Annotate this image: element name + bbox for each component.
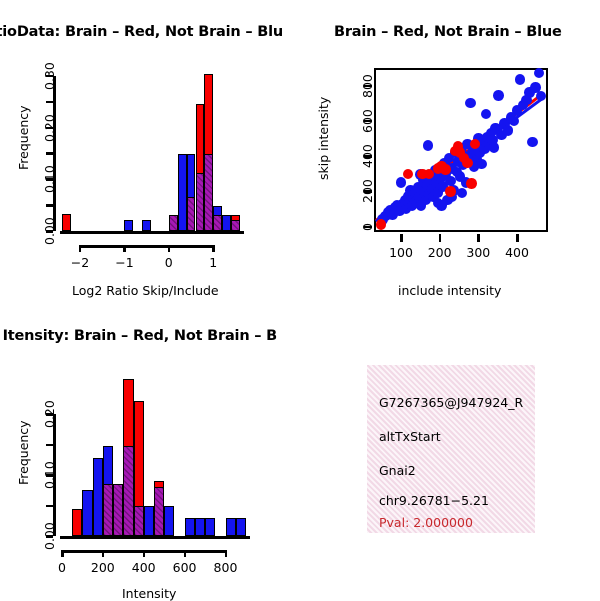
info-gene-name: Gnai2	[379, 463, 416, 478]
ratio-hist-x-tick-label: −2	[71, 255, 89, 270]
ratio-hist-y-tick-minor	[46, 204, 53, 207]
scatter-point	[462, 158, 472, 168]
ratio-hist-bar	[62, 214, 71, 231]
ratio-hist-x-tick	[79, 245, 82, 252]
scatter-point	[493, 90, 503, 100]
ratio-hist-bar-overlap	[196, 173, 205, 231]
scatter-point	[423, 140, 433, 150]
intensity-hist-x-tick	[102, 550, 105, 557]
intensity-hist-bar	[205, 518, 215, 536]
intensity-hist-y-tick-label: 0.10	[42, 461, 57, 489]
scatter-point	[445, 186, 455, 196]
intensity-hist-x-tick-label: 600	[173, 560, 197, 575]
info-box: G7267365@J947924_R altTxStart Gnai2 chr9…	[367, 365, 535, 533]
intensity-hist-bar-overlap	[154, 487, 164, 536]
ratio-hist-bar-overlap	[213, 215, 222, 231]
ratio-hist-x-tick	[123, 245, 126, 252]
scatter-x-tick	[439, 234, 442, 242]
ratio-hist-bar-overlap	[231, 220, 240, 231]
ratio-hist-y-tick-label: 0.20	[42, 114, 57, 142]
intensity-hist-x-tick	[143, 550, 146, 557]
intensity-hist-y-tick-minor	[46, 444, 53, 447]
scatter-point	[403, 169, 413, 179]
intensity-hist-x-tick	[61, 550, 64, 557]
scatter-y-tick-label: 600	[360, 109, 375, 133]
intensity-hist-bar-overlap	[134, 506, 144, 536]
scatter-x-tick	[477, 234, 480, 242]
ratio-histogram-panel: RatioData: Brain – Red, Not Brain – Blu …	[0, 0, 300, 310]
intensity-hist-bar	[72, 509, 82, 536]
scatter-x-tick-label: 300	[466, 245, 490, 260]
ratio-hist-bar	[142, 220, 151, 231]
ratio-hist-y-tick-minor	[46, 101, 53, 104]
intensity-hist-bar	[236, 518, 246, 536]
intensity-hist-y-tick-minor	[46, 505, 53, 508]
ratio-hist-bar-overlap	[204, 154, 213, 231]
intensity-hist-x-tick-label: 200	[91, 560, 115, 575]
intensity-hist-bar	[93, 458, 103, 536]
annotation-panel: G7267365@J947924_R altTxStart Gnai2 chr9…	[300, 310, 600, 600]
intensity-hist-bar-overlap	[123, 446, 133, 536]
info-coordinates: chr9.26781−5.21	[379, 493, 489, 508]
scatter-point	[440, 164, 450, 174]
intensity-hist-bar	[226, 518, 236, 536]
scatter-point	[436, 200, 446, 210]
intensity-hist-bar	[185, 518, 195, 536]
scatter-point	[515, 74, 525, 84]
ratio-hist-x-tick-label: −1	[115, 255, 133, 270]
scatter-point	[476, 159, 486, 169]
ratio-hist-y-tick-label: 0.00	[42, 217, 57, 245]
info-pval: Pval: 2.000000	[379, 515, 473, 530]
scatter-y-tick-label: 400	[360, 144, 375, 168]
ratio-hist-x-tick-label: 1	[209, 255, 217, 270]
ratio-hist-x-tick	[168, 245, 171, 252]
intensity-hist-x-tick-label: 800	[214, 560, 238, 575]
ratio-hist-y-tick-label: 0.30	[42, 62, 57, 90]
scatter-y-tick-label: 200	[360, 180, 375, 204]
intensity-hist-y-tick-label: 0.00	[42, 522, 57, 550]
intensity-hist-x-tick-label: 400	[132, 560, 156, 575]
ratio-hist-y-axis-line	[53, 76, 56, 231]
scatter-point	[503, 125, 513, 135]
intensity-hist-bar	[195, 518, 205, 536]
intensity-hist-bar-overlap	[113, 484, 123, 536]
ratio-hist-bar	[178, 154, 187, 231]
scatter-point	[489, 142, 499, 152]
ratio-hist-y-tick-minor	[46, 152, 53, 155]
ratio-hist-bar	[222, 215, 231, 231]
ratio-hist-bar-overlap	[187, 197, 196, 231]
intensity-hist-bar	[144, 506, 154, 536]
scatter-y-tick-label: 0	[360, 223, 375, 231]
scatter-x-tick	[400, 234, 403, 242]
ratio-hist-y-tick-label: 0.10	[42, 165, 57, 193]
scatter-point	[376, 219, 386, 229]
ratio-hist-bar-overlap	[169, 215, 178, 231]
intensity-hist-x-tick	[225, 550, 228, 557]
ratio-hist-x-tick-label: 0	[165, 255, 173, 270]
info-id-line: G7267365@J947924_R	[379, 395, 523, 410]
scatter-point	[527, 137, 537, 147]
intensity-hist-x-tick	[184, 550, 187, 557]
scatter-x-tick	[516, 234, 519, 242]
scatter-panel: Brain – Red, Not Brain – Blue skip inten…	[300, 0, 600, 310]
scatter-y-tick-label: 800	[360, 74, 375, 98]
ratio-hist-bar	[124, 220, 133, 231]
intensity-hist-bar-overlap	[103, 484, 113, 536]
intensity-hist-x-tick-label: 0	[58, 560, 66, 575]
scatter-point	[466, 178, 476, 188]
ratio-hist-baseline	[60, 231, 244, 234]
scatter-x-tick-label: 200	[428, 245, 452, 260]
intensity-hist-baseline	[60, 536, 250, 539]
ratio-hist-x-tick	[212, 245, 215, 252]
info-event-type: altTxStart	[379, 429, 441, 444]
intensity-hist-y-tick-label: 0.20	[42, 401, 57, 429]
scatter-point	[396, 177, 406, 187]
intensity-histogram-panel: ne Itensity: Brain – Red, Not Brain – B …	[0, 310, 300, 600]
scatter-x-tick-label: 400	[505, 245, 529, 260]
ratio-hist-x-axis-line	[80, 245, 214, 248]
intensity-hist-bar	[164, 506, 174, 536]
intensity-hist-bar	[82, 490, 92, 536]
scatter-x-tick-label: 100	[389, 245, 413, 260]
